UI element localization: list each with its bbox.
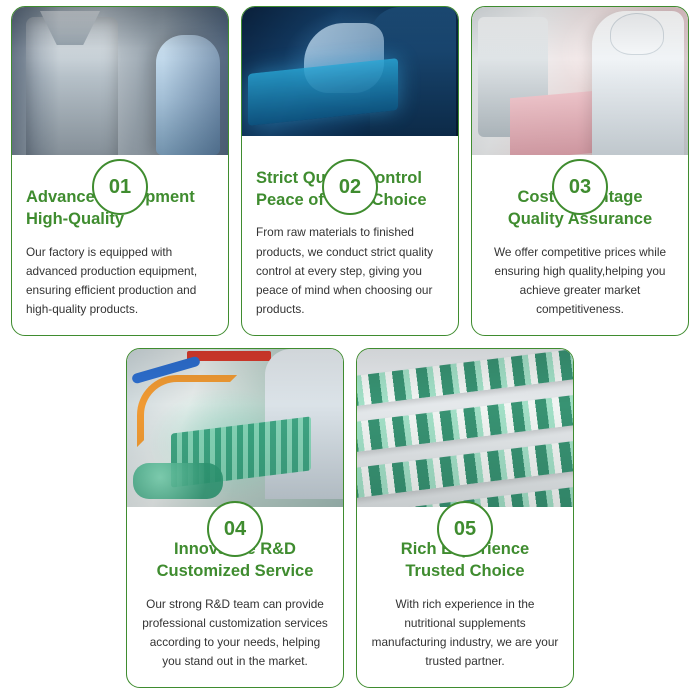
feature-card-03[interactable]: 03 Cost Advantage Quality Assurance We o…	[471, 6, 689, 336]
worker-shape	[156, 35, 220, 155]
feature-card-04[interactable]: 04 Innovative R&D Customized Service Our…	[126, 348, 344, 688]
photo-background	[242, 7, 458, 136]
laboratory-testing-photo	[242, 7, 458, 136]
cleanroom-operator-photo	[472, 7, 688, 155]
research-development-line-photo	[127, 349, 343, 507]
capsule-conveyor-photo	[357, 349, 573, 507]
feature-card-01[interactable]: 01 Advanced Equipment High-Quality Our f…	[11, 6, 229, 336]
photo-background	[127, 349, 343, 507]
green-capsule-pile-shape	[133, 463, 223, 499]
hopper-shape	[40, 11, 100, 45]
feature-card-05[interactable]: 05 Rich Experience Trusted Choice With r…	[356, 348, 574, 688]
card-title-line-2: Customized Service	[157, 562, 314, 580]
card-title-line-2: Trusted Choice	[405, 562, 524, 580]
cards-row-bottom: 04 Innovative R&D Customized Service Our…	[6, 348, 694, 688]
cards-row-top: 01 Advanced Equipment High-Quality Our f…	[6, 6, 694, 336]
card-description: From raw materials to finished products,…	[256, 223, 444, 319]
photo-background	[357, 349, 573, 507]
card-description: Our strong R&D team can provide professi…	[141, 595, 329, 671]
photo-background	[472, 7, 688, 155]
card-description: With rich experience in the nutritional …	[371, 595, 559, 671]
machine-shape	[26, 17, 118, 155]
feature-cards-page: 01 Advanced Equipment High-Quality Our f…	[0, 0, 700, 700]
photo-background	[12, 7, 228, 155]
feature-card-02[interactable]: 02 Strict Quality Control Peace of Mind …	[241, 6, 459, 336]
card-number-badge: 03	[552, 159, 608, 215]
capsule-filling-machine-photo	[12, 7, 228, 155]
card-number-badge: 02	[322, 159, 378, 215]
card-number-badge: 01	[92, 159, 148, 215]
card-number-badge: 04	[207, 501, 263, 557]
card-number-badge: 05	[437, 501, 493, 557]
hairnet-shape	[610, 13, 664, 55]
card-description: We offer competitive prices while ensuri…	[486, 243, 674, 319]
card-description: Our factory is equipped with advanced pr…	[26, 243, 214, 319]
